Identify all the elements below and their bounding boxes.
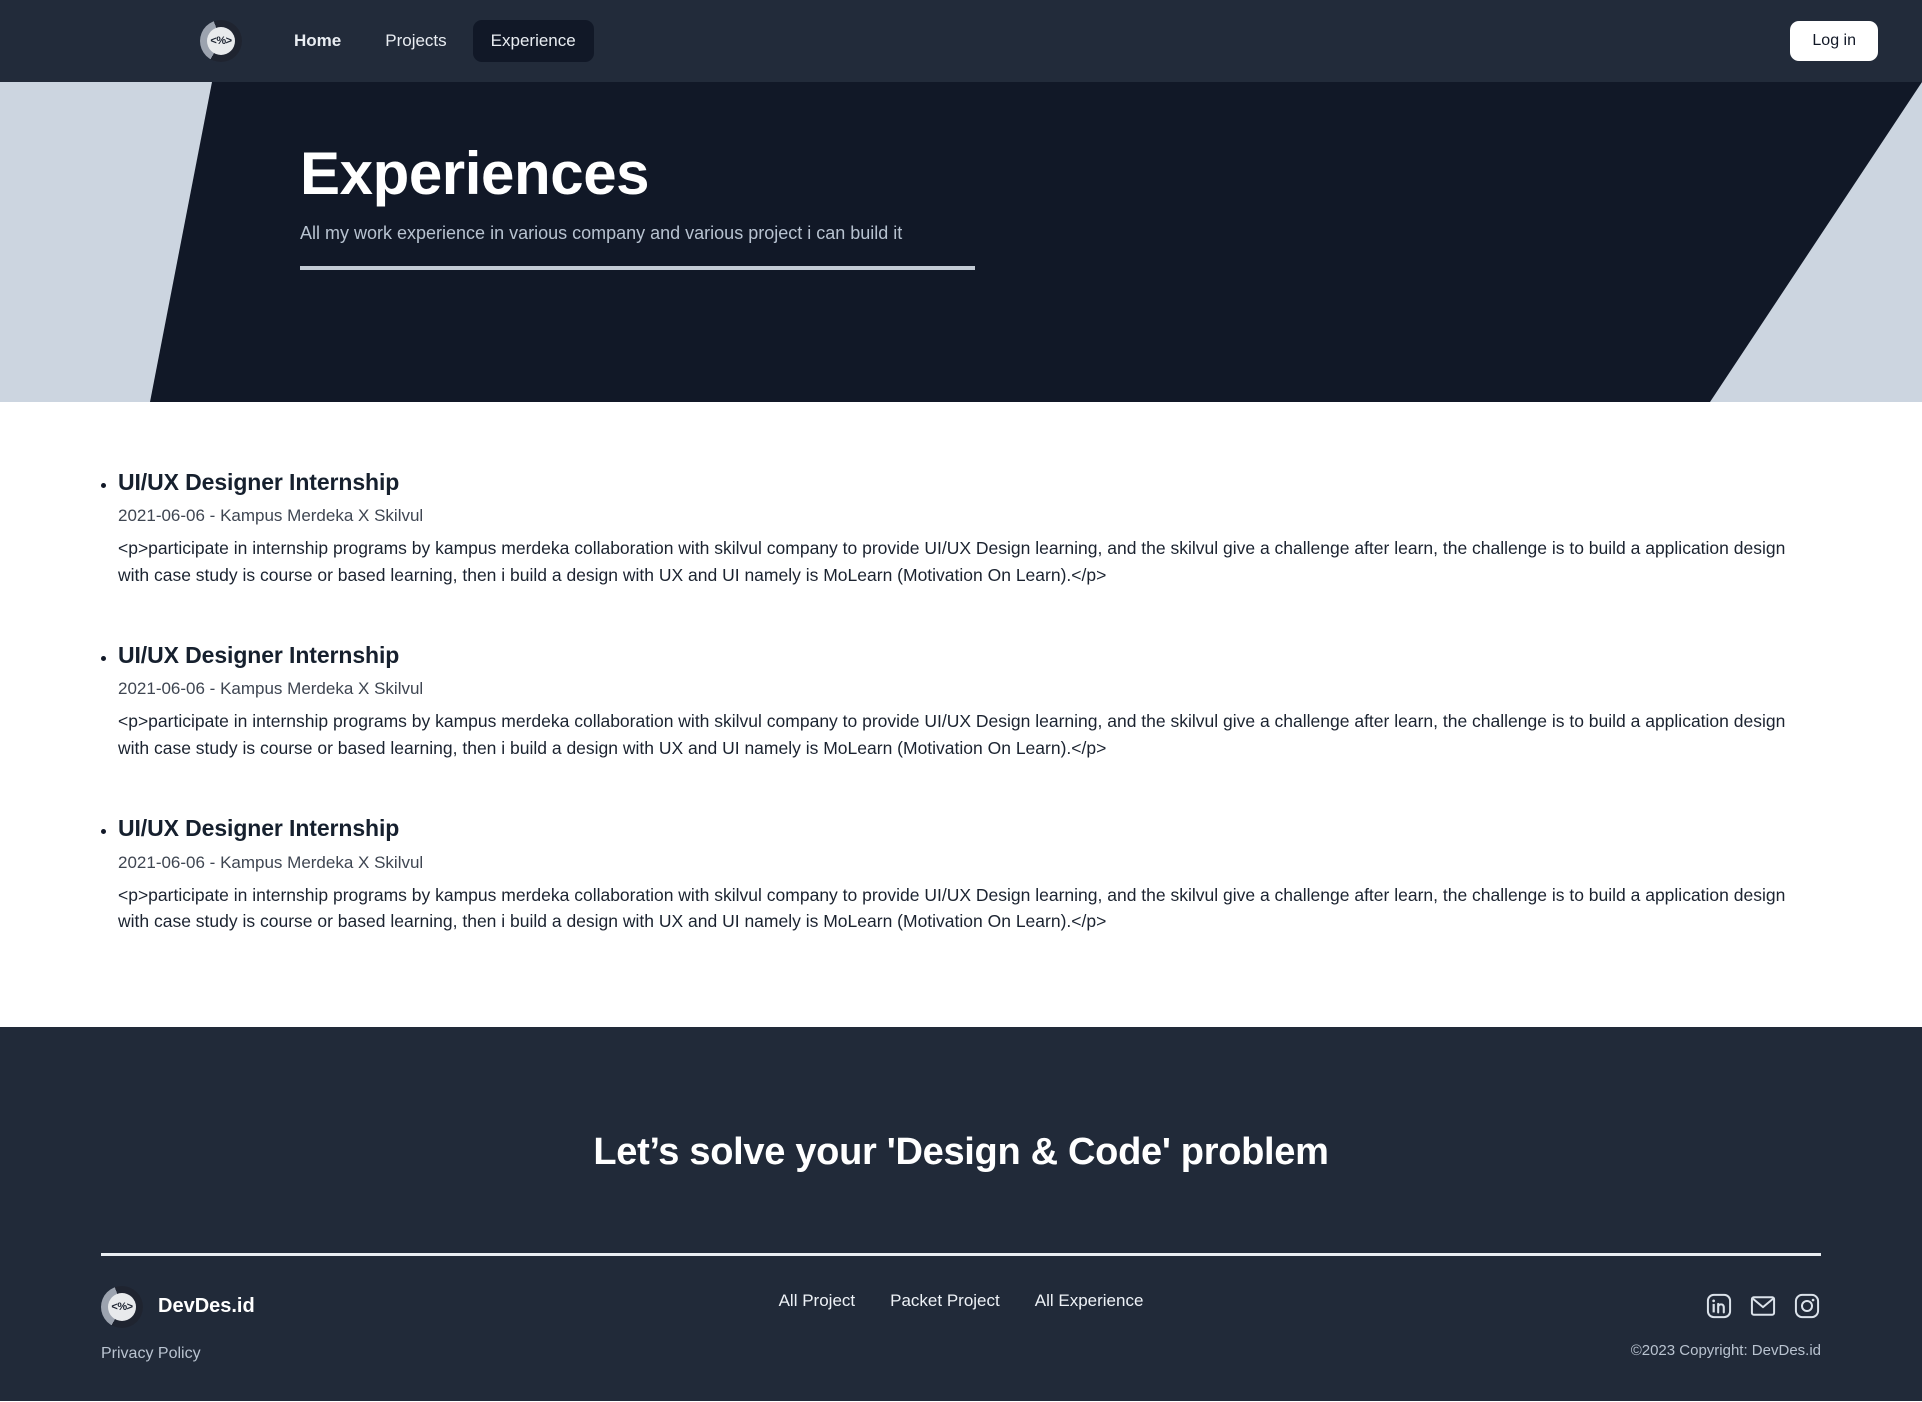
copyright-text: ©2023 Copyright: DevDes.id (1631, 1342, 1821, 1359)
footer-links: All Project Packet Project All Experienc… (571, 1286, 1351, 1311)
experience-meta: 2021-06-06 - Kampus Merdeka X Skilvul (118, 853, 1798, 873)
nav-item-projects[interactable]: Projects (367, 20, 464, 62)
logo-glyph-text: <%> (210, 35, 231, 47)
page-root: <%> Home Projects Experience Log in Expe… (0, 0, 1922, 1402)
footer-social-column: ©2023 Copyright: DevDes.id (1351, 1286, 1821, 1359)
nav-item-experience[interactable]: Experience (473, 20, 594, 62)
code-badge-logo-icon[interactable]: <%> (101, 1286, 143, 1328)
experience-description: <p>participate in internship programs by… (118, 708, 1788, 761)
experience-description: <p>participate in internship programs by… (118, 882, 1788, 935)
site-footer: Let’s solve your 'Design & Code' problem… (0, 1027, 1922, 1401)
privacy-policy-link[interactable]: Privacy Policy (101, 1345, 201, 1363)
experience-list: UI/UX Designer Internship 2021-06-06 - K… (118, 467, 1798, 935)
experience-title: UI/UX Designer Internship (118, 813, 1798, 844)
instagram-icon[interactable] (1793, 1292, 1821, 1320)
footer-link-packet-project[interactable]: Packet Project (890, 1291, 1000, 1311)
footer-brand[interactable]: <%> DevDes.id (101, 1286, 571, 1328)
email-icon[interactable] (1749, 1292, 1777, 1320)
experience-title: UI/UX Designer Internship (118, 467, 1798, 498)
experience-meta: 2021-06-06 - Kampus Merdeka X Skilvul (118, 506, 1798, 526)
footer-brand-column: <%> DevDes.id Privacy Policy (101, 1286, 571, 1363)
linkedin-icon[interactable] (1705, 1292, 1733, 1320)
top-navbar: <%> Home Projects Experience Log in (0, 0, 1922, 82)
logo-glyph-text: <%> (111, 1301, 132, 1313)
navbar-links: Home Projects Experience (276, 20, 594, 62)
list-item: UI/UX Designer Internship 2021-06-06 - K… (118, 640, 1798, 761)
footer-cta-heading: Let’s solve your 'Design & Code' problem (0, 1027, 1922, 1174)
list-item: UI/UX Designer Internship 2021-06-06 - K… (118, 813, 1798, 934)
experience-meta: 2021-06-06 - Kampus Merdeka X Skilvul (118, 679, 1798, 699)
nav-item-home[interactable]: Home (276, 20, 359, 62)
hero-content: Experiences All my work experience in va… (0, 82, 1922, 270)
footer-columns: <%> DevDes.id Privacy Policy All Project… (0, 1256, 1922, 1363)
navbar-left-group: <%> Home Projects Experience (200, 20, 594, 62)
hero-divider (300, 266, 975, 270)
social-links (1705, 1286, 1821, 1320)
experience-description: <p>participate in internship programs by… (118, 535, 1788, 588)
footer-link-all-experience[interactable]: All Experience (1035, 1291, 1144, 1311)
footer-link-all-project[interactable]: All Project (779, 1291, 856, 1311)
hero-section: Experiences All my work experience in va… (0, 82, 1922, 402)
experience-title: UI/UX Designer Internship (118, 640, 1798, 671)
experience-content: UI/UX Designer Internship 2021-06-06 - K… (0, 402, 1922, 1027)
login-button[interactable]: Log in (1790, 21, 1878, 61)
footer-brand-name: DevDes.id (158, 1295, 255, 1318)
hero-subtitle: All my work experience in various compan… (300, 223, 1922, 244)
code-badge-logo-icon[interactable]: <%> (200, 20, 242, 62)
page-title: Experiences (300, 140, 1922, 207)
list-item: UI/UX Designer Internship 2021-06-06 - K… (118, 467, 1798, 588)
